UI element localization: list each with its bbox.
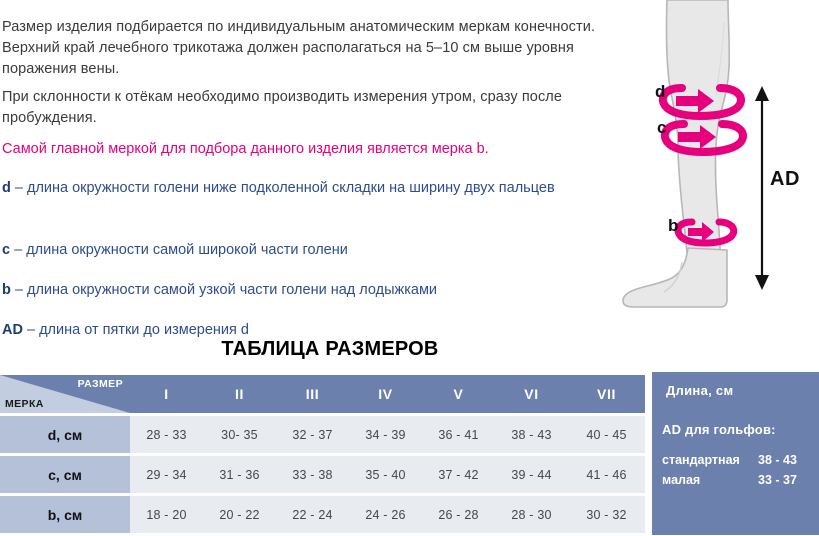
- description-column: Размер изделия подбирается по индивидуал…: [0, 0, 610, 330]
- cell-d-vi: 38 - 43: [495, 416, 568, 453]
- leg-diagram-svg: [620, 0, 819, 330]
- measurement-key-b: b: [2, 282, 11, 298]
- measurement-dash-ad: –: [23, 322, 39, 338]
- measurement-text-d: длина окружности голени ниже подколенной…: [27, 180, 555, 196]
- cell-c-v: 37 - 42: [422, 456, 495, 493]
- cell-c-vi: 39 - 44: [495, 456, 568, 493]
- cell-b-i: 18 - 20: [130, 496, 203, 533]
- measurement-key-d: d: [2, 180, 11, 196]
- measurement-line-b: b – длина окружности самой узкой части г…: [2, 280, 602, 301]
- cell-c-i: 29 - 34: [130, 456, 203, 493]
- column-header-vii: VII: [568, 375, 645, 413]
- highlight-note: Самой главной меркой для подбора данного…: [2, 139, 602, 160]
- leg-label-b: b: [668, 216, 678, 236]
- cell-c-vii: 41 - 46: [568, 456, 645, 493]
- measurement-key-c: c: [2, 242, 10, 258]
- size-table: РАЗМЕР МЕРКА I II III IV V VI VII d, см …: [0, 372, 645, 536]
- cell-d-vii: 40 - 45: [568, 416, 645, 453]
- column-header-i: I: [130, 375, 203, 413]
- column-header-vi: VI: [495, 375, 568, 413]
- cell-d-iv: 34 - 39: [349, 416, 422, 453]
- measurement-text-ad: длина от пятки до измерения d: [39, 322, 249, 338]
- leg-label-ad: AD: [770, 168, 800, 191]
- leg-illustration: d c b AD: [620, 0, 819, 330]
- measurement-text-c: длина окружности самой широкой части гол…: [26, 242, 348, 258]
- length-row-small-value: 33 - 37: [758, 473, 797, 487]
- measurement-dash-d: –: [11, 180, 27, 196]
- leg-label-c: c: [657, 118, 666, 138]
- measurement-line-d: d – длина окружности голени ниже подколе…: [2, 178, 602, 199]
- ad-dimension-arrow-icon: [755, 86, 769, 290]
- cell-d-iii: 32 - 37: [276, 416, 349, 453]
- column-header-v: V: [422, 375, 495, 413]
- intro-paragraph: Размер изделия подбирается по индивидуал…: [2, 17, 602, 80]
- cell-b-iii: 22 - 24: [276, 496, 349, 533]
- cell-d-v: 36 - 41: [422, 416, 495, 453]
- measurement-dash-b: –: [11, 282, 27, 298]
- length-row-small-name: малая: [662, 473, 758, 487]
- measurement-key-ad: AD: [2, 322, 23, 338]
- column-header-iii: III: [276, 375, 349, 413]
- cell-b-iv: 24 - 26: [349, 496, 422, 533]
- length-panel-title: Длина, см: [666, 383, 733, 398]
- length-row-standard-value: 38 - 43: [758, 453, 797, 467]
- column-header-ii: II: [203, 375, 276, 413]
- cell-c-iii: 33 - 38: [276, 456, 349, 493]
- cell-b-vii: 30 - 32: [568, 496, 645, 533]
- cell-d-i: 28 - 33: [130, 416, 203, 453]
- measurement-dash-c: –: [10, 242, 26, 258]
- cell-b-ii: 20 - 22: [203, 496, 276, 533]
- column-header-iv: IV: [349, 375, 422, 413]
- length-row-standard-name: стандартная: [662, 453, 758, 467]
- table-row: b, см 18 - 20 20 - 22 22 - 24 24 - 26 26…: [0, 496, 645, 533]
- row-label-d: d, см: [0, 416, 130, 453]
- corner-size-label: РАЗМЕР: [78, 378, 123, 390]
- cell-b-v: 26 - 28: [422, 496, 495, 533]
- corner-merka-label: МЕРКА: [5, 398, 44, 410]
- cell-c-iv: 35 - 40: [349, 456, 422, 493]
- length-row-small: малая33 - 37: [662, 473, 812, 487]
- length-panel: Длина, см AD для гольфов: стандартная38 …: [652, 372, 819, 535]
- length-row-standard: стандартная38 - 43: [662, 453, 812, 467]
- row-label-b: b, см: [0, 496, 130, 533]
- swelling-paragraph: При склонности к отёкам необходимо произ…: [2, 87, 602, 129]
- table-corner-cell: РАЗМЕР МЕРКА: [0, 375, 130, 413]
- measurement-line-c: c – длина окружности самой широкой части…: [2, 240, 602, 261]
- table-row: d, см 28 - 33 30- 35 32 - 37 34 - 39 36 …: [0, 416, 645, 453]
- cell-b-vi: 28 - 30: [495, 496, 568, 533]
- row-label-c: с, см: [0, 456, 130, 493]
- leg-label-d: d: [655, 82, 665, 102]
- length-panel-subtitle: AD для гольфов:: [662, 422, 776, 437]
- table-row: с, см 29 - 34 31 - 36 33 - 38 35 - 40 37…: [0, 456, 645, 493]
- cell-d-ii: 30- 35: [203, 416, 276, 453]
- measurement-text-b: длина окружности самой узкой части голен…: [27, 282, 437, 298]
- table-header-row: РАЗМЕР МЕРКА I II III IV V VI VII: [0, 375, 645, 413]
- table-title: ТАБЛИЦА РАЗМЕРОВ: [0, 338, 660, 361]
- cell-c-ii: 31 - 36: [203, 456, 276, 493]
